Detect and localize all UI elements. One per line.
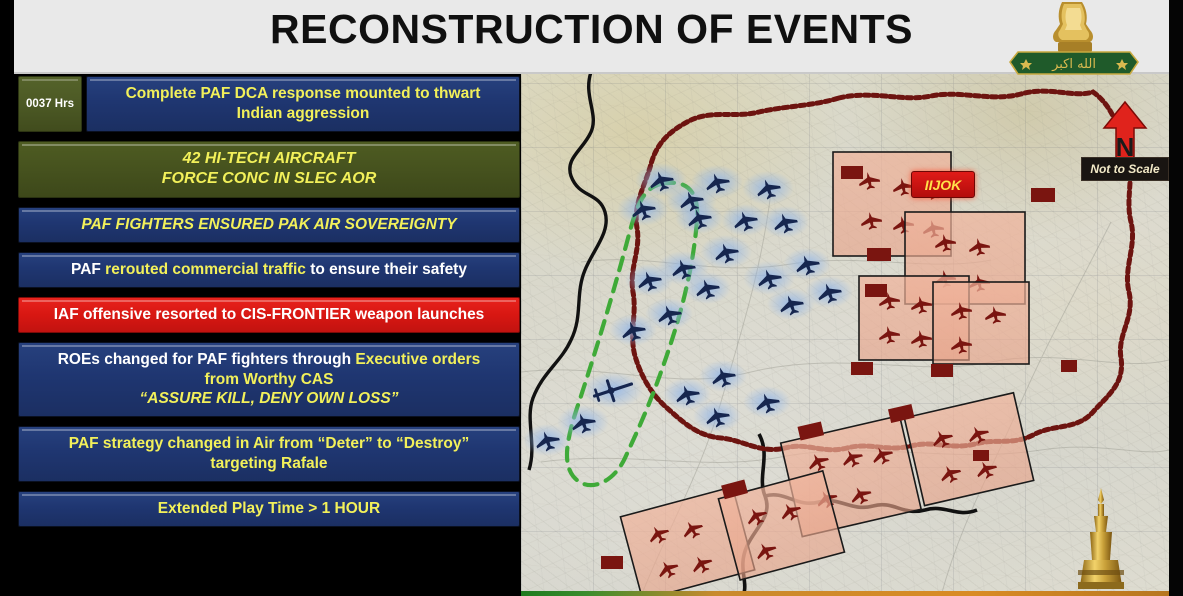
event-banner-air-sovereignty[interactable]: PAF FIGHTERS ENSURED PAK AIR SOVEREIGNTY: [18, 207, 520, 243]
minar-emblem: [1070, 486, 1132, 596]
banner-text: ROEs changed for PAF fighters through: [58, 351, 356, 368]
banner-line: Extended Play Time > 1 HOUR: [158, 499, 380, 519]
event-banner-force-conc[interactable]: 42 HI-TECH AIRCRAFTFORCE CONC IN SLEC AO…: [18, 141, 520, 199]
left-bezel: [0, 0, 14, 596]
banner-text: PAF FIGHTERS ENSURED PAK AIR SOVEREIGNTY: [81, 216, 456, 233]
header-bar: RECONSTRUCTION OF EVENTS: [14, 0, 1169, 74]
banner-line: 42 HI-TECH AIRCRAFT: [162, 149, 377, 170]
banner-text: IAF offensive resorted to CIS-FRONTIER w…: [54, 306, 485, 323]
banner-line: “ASSURE KILL, DENY OWN LOSS”: [58, 389, 481, 409]
event-banner-dca-response[interactable]: Complete PAF DCA response mounted to thw…: [86, 76, 520, 132]
banner-text: from Worthy CAS: [205, 371, 334, 388]
event-banner-deter-to-destroy[interactable]: PAF strategy changed in Air from “Deter”…: [18, 426, 520, 482]
event-banner-cis-frontier[interactable]: IAF offensive resorted to CIS-FRONTIER w…: [18, 297, 520, 333]
page-title: RECONSTRUCTION OF EVENTS: [14, 6, 1169, 53]
event-banner-commercial-traffic[interactable]: PAF rerouted commercial traffic to ensur…: [18, 252, 520, 288]
red-force-group: [601, 152, 1077, 596]
banner-line: Complete PAF DCA response mounted to thw…: [126, 84, 481, 104]
banner-line: PAF rerouted commercial traffic to ensur…: [71, 260, 467, 280]
right-bezel: [1169, 0, 1183, 596]
awacs-aircraft: [583, 372, 643, 408]
emblem-arabic-text: الله اكبر: [1051, 57, 1096, 72]
event-timeline: 0037 HrsComplete PAF DCA response mounte…: [18, 76, 520, 536]
slide-root: IIJOK N Not to Scale 0037 HrsComplete PA…: [0, 0, 1183, 596]
banner-text: Executive orders: [355, 351, 480, 368]
banner-text: Indian aggression: [237, 105, 370, 122]
banner-line: FORCE CONC IN SLEC AOR: [162, 169, 377, 190]
paf-fist-emblem: الله اكبر: [1004, 0, 1144, 76]
banner-text: FORCE CONC IN SLEC AOR: [162, 170, 377, 187]
banner-text: PAF strategy changed in Air from “Deter”…: [69, 435, 470, 452]
red-box-4: [933, 282, 1029, 364]
blue-aircraft-group: [523, 163, 853, 456]
banner-text: “ASSURE KILL, DENY OWN LOSS”: [140, 390, 399, 407]
banner-line: PAF strategy changed in Air from “Deter”…: [69, 434, 470, 454]
banner-text: Complete PAF DCA response mounted to thw…: [126, 85, 481, 102]
banner-line: PAF FIGHTERS ENSURED PAK AIR SOVEREIGNTY: [81, 215, 456, 235]
banner-line: targeting Rafale: [69, 454, 470, 474]
banner-line: from Worthy CAS: [58, 370, 481, 390]
banner-line: Indian aggression: [126, 104, 481, 124]
banner-text: Extended Play Time > 1 HOUR: [158, 500, 380, 517]
banner-line: IAF offensive resorted to CIS-FRONTIER w…: [54, 305, 485, 325]
banner-text: to ensure their safety: [306, 261, 467, 278]
banner-text: 42 HI-TECH AIRCRAFT: [183, 150, 356, 167]
event-banner-roe-change[interactable]: ROEs changed for PAF fighters through Ex…: [18, 342, 520, 417]
banner-text: targeting Rafale: [210, 455, 327, 472]
timestamp-badge: 0037 Hrs: [18, 76, 82, 132]
banner-text: PAF: [71, 261, 105, 278]
event-banner-play-time[interactable]: Extended Play Time > 1 HOUR: [18, 491, 520, 527]
red-box-8: [715, 459, 844, 580]
banner-line: ROEs changed for PAF fighters through Ex…: [58, 350, 481, 370]
map-label-iijok: IIJOK: [911, 171, 975, 198]
not-to-scale-label: Not to Scale: [1081, 157, 1169, 181]
banner-text: rerouted commercial traffic: [105, 261, 306, 278]
